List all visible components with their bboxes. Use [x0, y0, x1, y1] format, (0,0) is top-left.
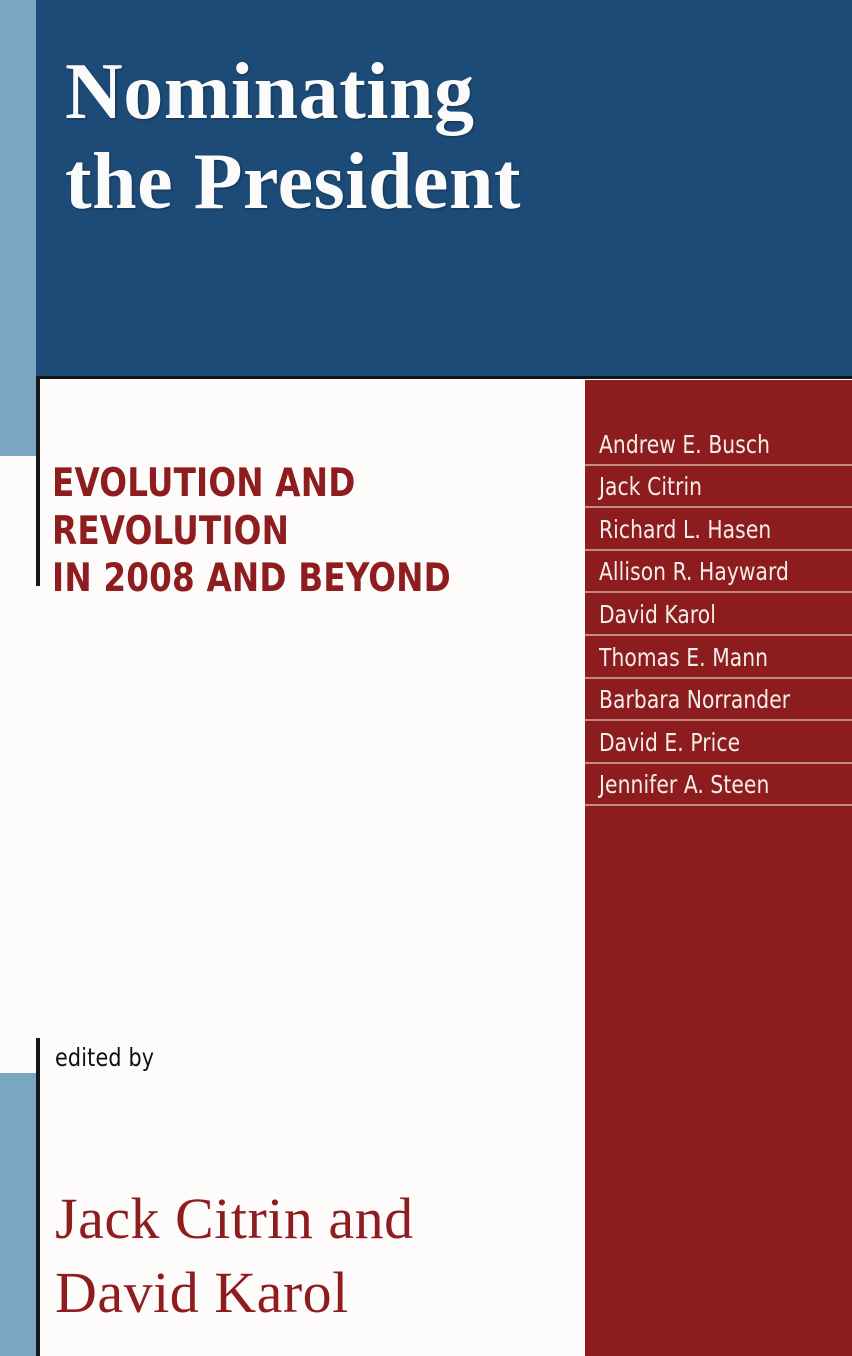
contributor-name: David Karol	[599, 600, 716, 629]
contributors-panel: Andrew E. Busch Jack Citrin Richard L. H…	[585, 380, 852, 1356]
contributor-row: David Karol	[585, 593, 852, 636]
contributor-name: Allison R. Hayward	[599, 557, 789, 586]
contributor-name: Barbara Norrander	[599, 685, 790, 714]
contributors-list: Andrew E. Busch Jack Citrin Richard L. H…	[585, 423, 852, 806]
contributor-row: David E. Price	[585, 721, 852, 764]
book-title: Nominating the President	[65, 48, 765, 227]
contributor-row: Richard L. Hasen	[585, 508, 852, 551]
contributor-name: Jack Citrin	[599, 472, 702, 501]
edited-by-label: edited by	[55, 1043, 154, 1072]
left-accent-strip-top	[0, 0, 36, 456]
book-subtitle: EVOLUTION AND REVOLUTION IN 2008 AND BEY…	[52, 460, 526, 603]
editor-names: Jack Citrin and David Karol	[55, 1182, 555, 1329]
contributor-name: David E. Price	[599, 728, 740, 757]
vertical-rule-lower	[36, 1038, 40, 1356]
vertical-rule-upper	[36, 379, 40, 586]
contributor-row: Andrew E. Busch	[585, 423, 852, 466]
contributor-name: Thomas E. Mann	[599, 643, 768, 672]
contributor-name: Andrew E. Busch	[599, 430, 770, 459]
contributor-row: Barbara Norrander	[585, 679, 852, 722]
contributor-name: Richard L. Hasen	[599, 515, 771, 544]
contributor-row: Jennifer A. Steen	[585, 764, 852, 807]
book-cover: Nominating the President EVOLUTION AND R…	[0, 0, 852, 1356]
contributor-row: Allison R. Hayward	[585, 551, 852, 594]
left-accent-strip-bottom	[0, 1073, 36, 1356]
contributor-row: Jack Citrin	[585, 466, 852, 509]
title-band: Nominating the President	[36, 0, 852, 379]
contributor-row: Thomas E. Mann	[585, 636, 852, 679]
contributor-name: Jennifer A. Steen	[599, 770, 769, 799]
